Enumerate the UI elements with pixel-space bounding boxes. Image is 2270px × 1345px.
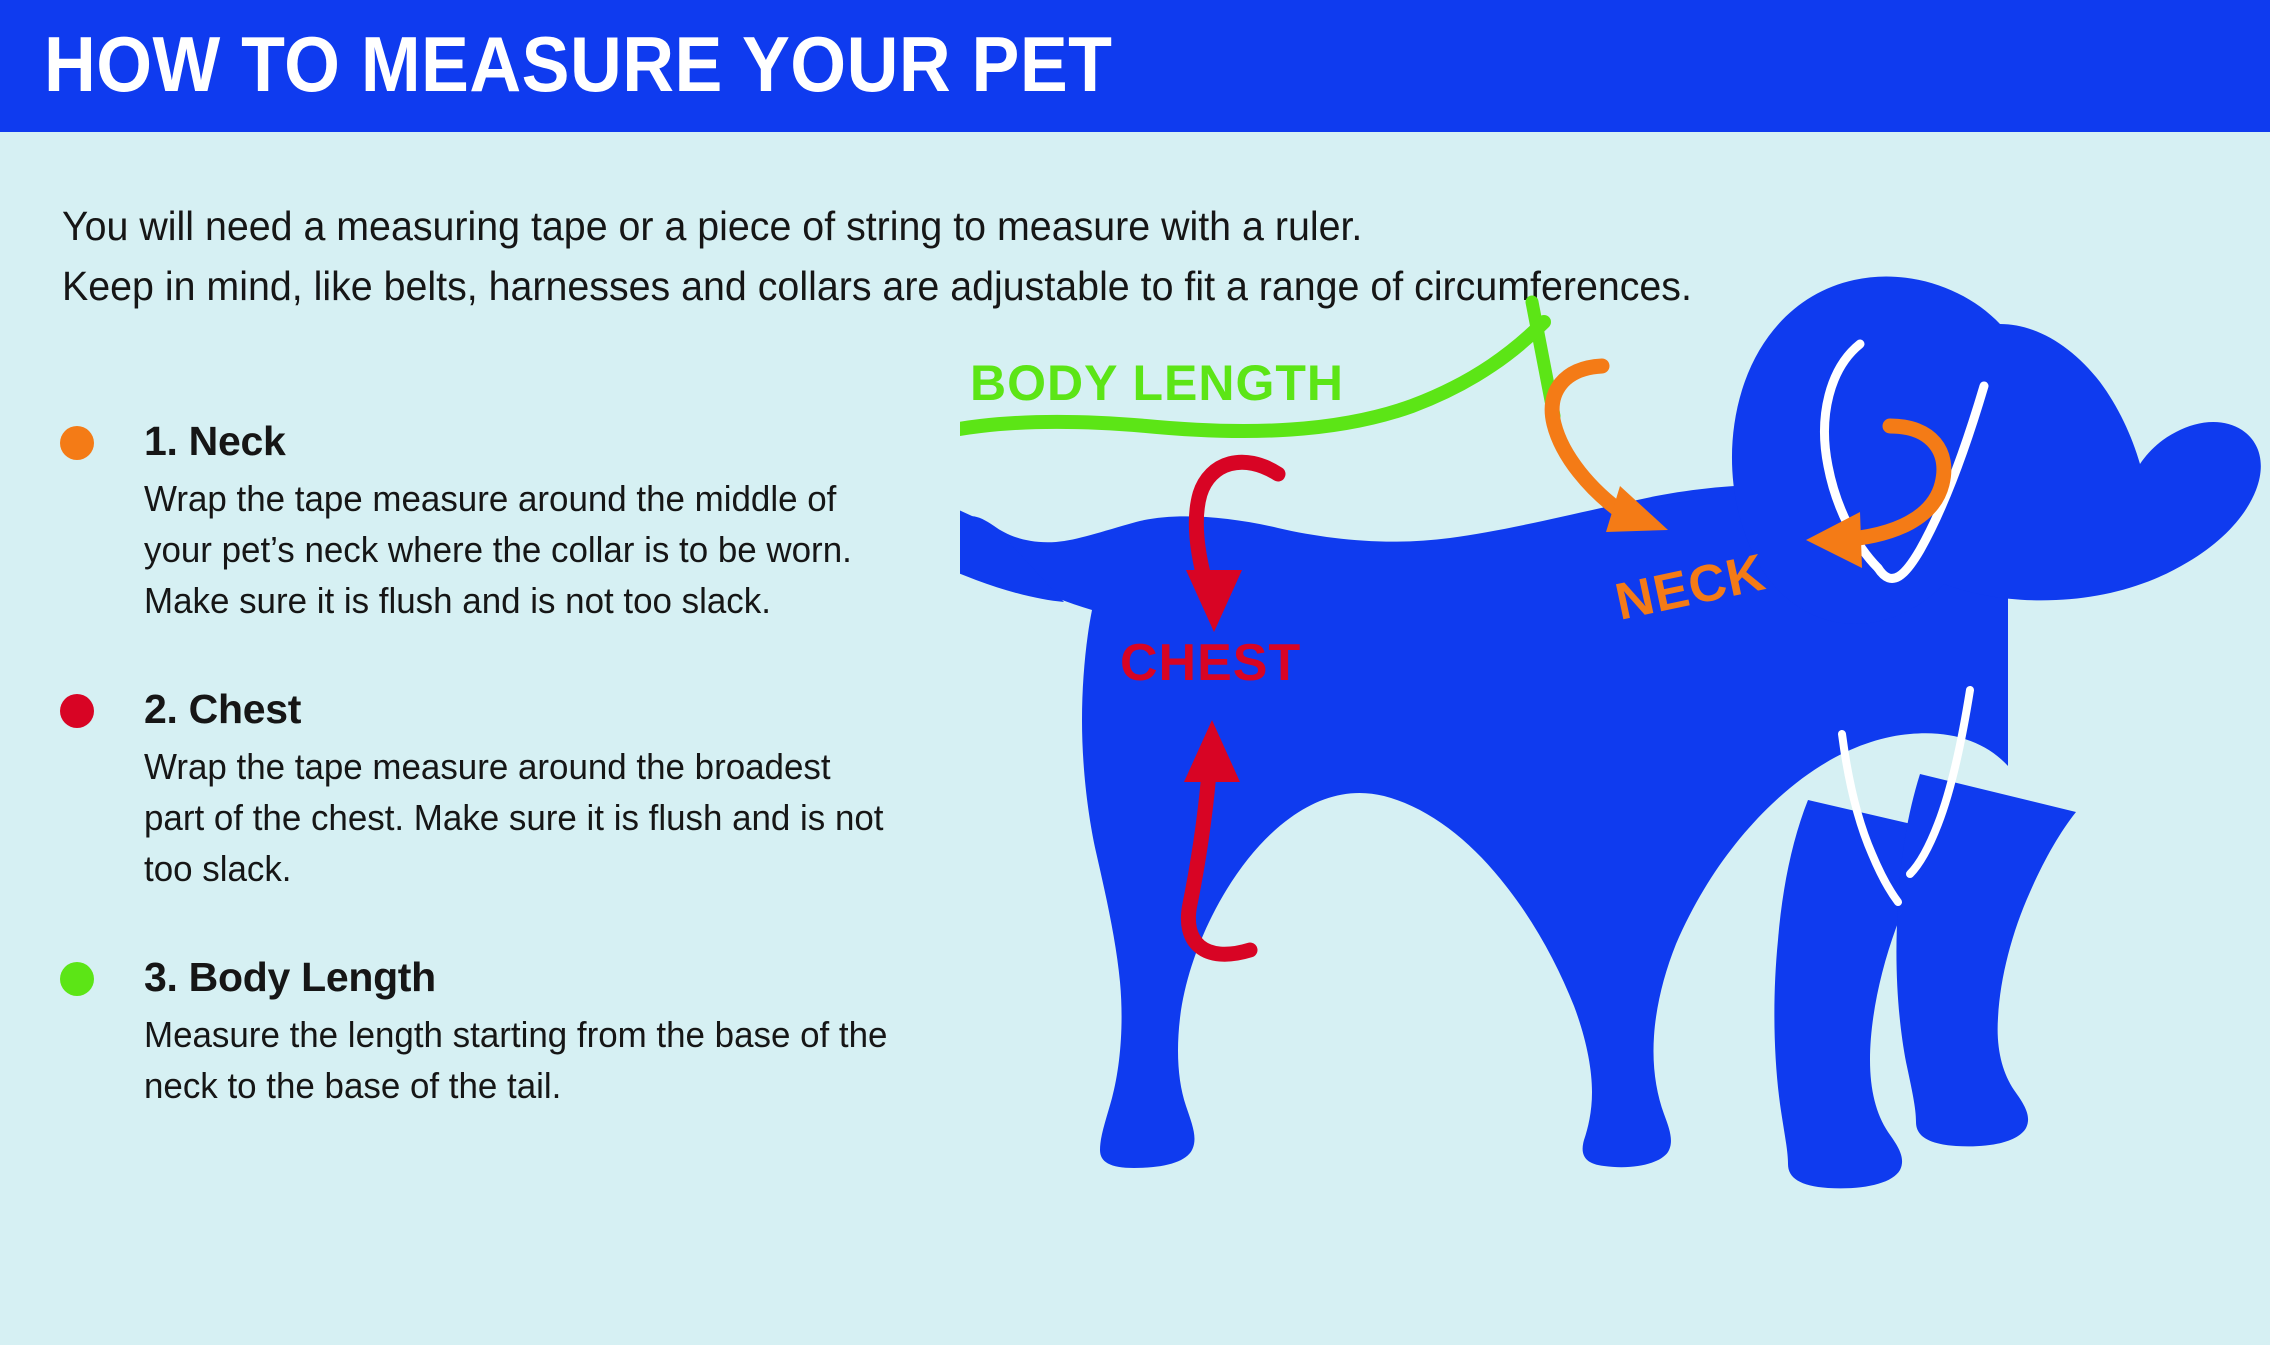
step-body-line: Measure the length starting from the bas… bbox=[144, 1009, 949, 1060]
step-body-neck: Wrap the tape measure around the middle … bbox=[144, 473, 974, 626]
measurement-steps-list: 1. Neck Wrap the tape measure around the… bbox=[60, 412, 990, 1157]
step-item-chest: 2. Chest Wrap the tape measure around th… bbox=[60, 680, 990, 894]
bullet-body-length-icon bbox=[60, 962, 94, 996]
dog-front-leg-far bbox=[1896, 774, 2076, 1146]
step-body-line: part of the chest. Make sure it is flush… bbox=[144, 792, 949, 843]
step-body-line: Make sure it is flush and is not too sla… bbox=[144, 575, 949, 626]
step-item-neck: 1. Neck Wrap the tape measure around the… bbox=[60, 412, 990, 626]
step-heading-neck: 1. Neck bbox=[144, 412, 990, 470]
step-body-body-length: Measure the length starting from the bas… bbox=[144, 1009, 974, 1111]
dog-silhouette-icon bbox=[960, 277, 2261, 1189]
step-heading-body-length: 3. Body Length bbox=[144, 948, 990, 1006]
header-band: HOW TO MEASURE YOUR PET bbox=[0, 0, 2270, 132]
body-length-measure: BODY LENGTH bbox=[960, 302, 1554, 514]
step-body-line: your pet’s neck where the collar is to b… bbox=[144, 524, 949, 575]
body-length-label: BODY LENGTH bbox=[970, 355, 1344, 411]
bullet-neck-icon bbox=[60, 426, 94, 460]
bullet-chest-icon bbox=[60, 694, 94, 728]
step-item-body-length: 3. Body Length Measure the length starti… bbox=[60, 948, 990, 1111]
step-body-line: too slack. bbox=[144, 843, 949, 894]
dog-head bbox=[1732, 277, 2261, 624]
step-body-chest: Wrap the tape measure around the broades… bbox=[144, 741, 974, 894]
step-heading-chest: 2. Chest bbox=[144, 680, 990, 738]
chest-label: CHEST bbox=[1120, 634, 1301, 692]
infographic-page: HOW TO MEASURE YOUR PET You will need a … bbox=[0, 0, 2270, 1345]
page-title: HOW TO MEASURE YOUR PET bbox=[44, 14, 1112, 114]
step-body-line: Wrap the tape measure around the middle … bbox=[144, 473, 949, 524]
neck-arrow-left-shaft-icon bbox=[1552, 366, 1624, 514]
dog-measurement-illustration: BODY LENGTH NECK CHEST bbox=[960, 240, 2270, 1345]
step-body-line: Wrap the tape measure around the broades… bbox=[144, 741, 949, 792]
step-body-line: neck to the base of the tail. bbox=[144, 1060, 949, 1111]
